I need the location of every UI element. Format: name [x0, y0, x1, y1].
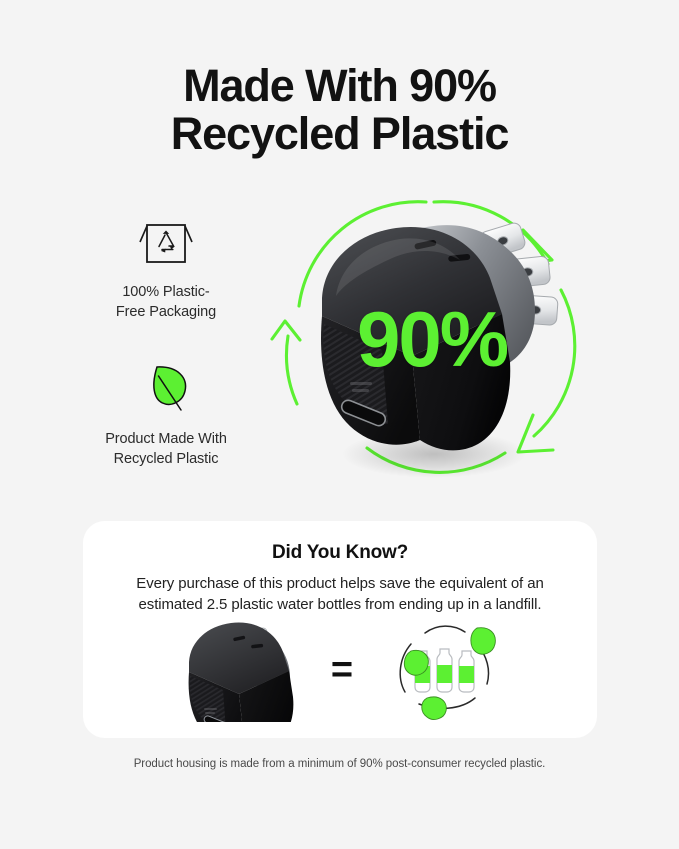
feature-label-line-1: Product Made With: [78, 430, 254, 450]
feature-list: 100% Plastic- Free Packaging Product Mad…: [78, 213, 254, 469]
feature-plastic-free-packaging: 100% Plastic- Free Packaging: [78, 213, 254, 322]
page-title: Made With 90% Recycled Plastic: [0, 62, 679, 158]
feature-label: Product Made With Recycled Plastic: [78, 430, 254, 469]
did-you-know-card: Did You Know? Every purchase of this pro…: [83, 521, 597, 738]
card-title: Did You Know?: [83, 542, 597, 564]
feature-label-line-2: Recycled Plastic: [78, 450, 254, 470]
charger-thumbnail: [177, 618, 297, 727]
hero-percent-label: 90%: [262, 294, 602, 385]
leaf-icon: [404, 650, 428, 675]
feature-label: 100% Plastic- Free Packaging: [78, 283, 254, 322]
card-body-line-2: estimated 2.5 plastic water bottles from…: [111, 594, 569, 615]
green-leaf-icon: [78, 360, 254, 418]
equivalence-illustration: =: [83, 617, 597, 727]
headline-line-2: Recycled Plastic: [0, 110, 679, 158]
leaf-icon: [471, 627, 495, 653]
infographic-page: Made With 90% Recycled Plastic: [0, 0, 679, 849]
card-body: Every purchase of this product helps sav…: [83, 573, 597, 616]
bottle-icon: [437, 649, 452, 692]
feature-label-line-1: 100% Plastic-: [78, 283, 254, 303]
footer-disclaimer: Product housing is made from a minimum o…: [0, 758, 679, 770]
equals-sign: =: [331, 651, 353, 689]
hero-illustration: 90%: [262, 186, 602, 511]
recycled-bottles-icon: [387, 618, 503, 727]
feature-label-line-2: Free Packaging: [78, 303, 254, 323]
recyclable-package-box-icon: [78, 213, 254, 271]
leaf-icon: [422, 696, 447, 719]
bottle-icon: [459, 651, 474, 692]
headline-line-1: Made With 90%: [183, 60, 496, 111]
feature-recycled-plastic-product: Product Made With Recycled Plastic: [78, 360, 254, 469]
card-body-line-1: Every purchase of this product helps sav…: [111, 573, 569, 594]
